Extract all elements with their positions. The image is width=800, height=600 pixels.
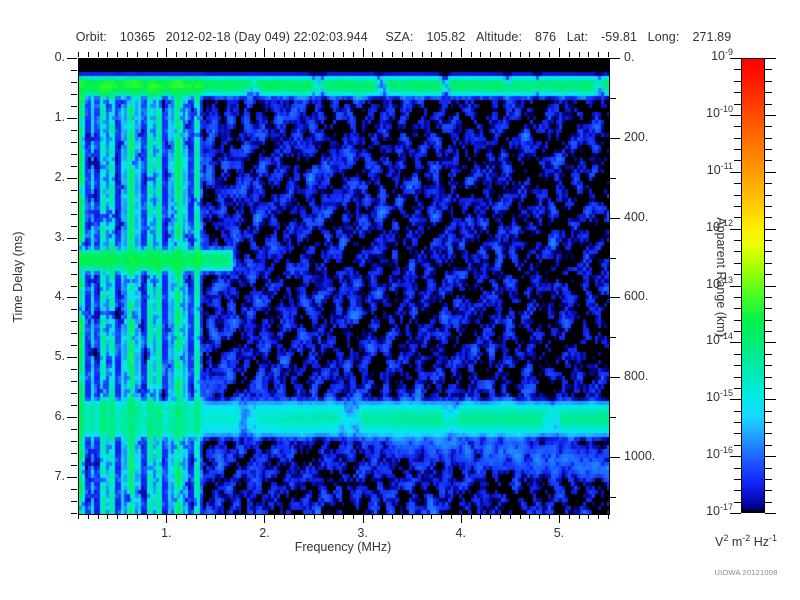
y2-axis-tick-label: 200.	[624, 130, 684, 144]
x-axis-major-tick	[559, 514, 560, 523]
x-axis-top-tick	[539, 52, 540, 57]
x-axis-top-tick	[98, 52, 99, 57]
unit-hertz: Hz	[754, 535, 769, 549]
x-axis-top-tick	[588, 52, 589, 57]
unit-meter: m	[732, 535, 742, 549]
y-axis-minor-tick	[71, 309, 77, 310]
x-axis-top-tick	[333, 52, 334, 57]
colorbar-minor-tick-left	[734, 433, 741, 434]
x-axis-top-tick	[412, 52, 413, 57]
y-axis-major-tick	[67, 178, 77, 179]
plot-header: Orbit:10365 2012-02-18 (Day 049) 22:02:0…	[0, 30, 800, 44]
x-axis-minor-tick	[157, 514, 158, 519]
x-axis-top-tick	[294, 52, 295, 57]
x-axis-minor-tick	[598, 514, 599, 519]
y2-axis-major-tick	[610, 58, 620, 59]
y-axis-minor-tick	[71, 142, 77, 143]
x-axis-minor-tick	[235, 514, 236, 519]
x-axis-minor-tick	[549, 514, 550, 519]
unit-meter-exponent: -2	[742, 533, 750, 543]
y2-axis-tick-label: 600.	[624, 289, 684, 303]
colorbar-major-tick	[765, 456, 776, 457]
y2-axis-major-tick	[610, 377, 620, 378]
x-axis-minor-tick	[98, 514, 99, 519]
x-axis-top-tick	[255, 52, 256, 57]
x-axis-minor-tick	[412, 514, 413, 519]
colorbar-minor-tick	[765, 308, 772, 309]
y2-axis-tick-label: 400.	[624, 210, 684, 224]
y-axis-major-tick	[67, 357, 77, 358]
colorbar-minor-tick	[765, 104, 772, 105]
long-label: Long:	[648, 30, 680, 44]
y-axis-minor-tick	[71, 393, 77, 394]
y2-axis-major-tick	[610, 138, 620, 139]
y-axis-major-tick	[67, 417, 77, 418]
x-axis-top-tick	[598, 52, 599, 57]
colorbar-minor-tick-left	[734, 138, 741, 139]
y2-axis-major-tick	[610, 297, 620, 298]
colorbar-major-tick-left	[730, 399, 741, 400]
sza-value: 105.82	[427, 30, 466, 44]
y-axis-tick-label: 4.	[25, 289, 65, 303]
y-axis-tick-label: 2.	[25, 170, 65, 184]
colorbar-minor-tick	[765, 195, 772, 196]
y-axis-title: Time Delay (ms)	[11, 197, 25, 357]
unit-volt-exponent: 2	[723, 533, 728, 543]
y-axis-tick-label: 5.	[25, 349, 65, 363]
colorbar-minor-tick	[765, 502, 772, 503]
colorbar-minor-tick	[765, 331, 772, 332]
y-axis-minor-tick	[71, 333, 77, 334]
x-axis-top-tick	[520, 52, 521, 57]
colorbar-tick-label: 10-9	[681, 49, 733, 63]
colorbar-major-tick-left	[730, 115, 741, 116]
y-axis-tick-label: 6.	[25, 409, 65, 423]
x-axis-minor-tick	[480, 514, 481, 519]
colorbar-major-tick-left	[730, 513, 741, 514]
colorbar-tick-label: 10-10	[681, 106, 733, 120]
colorbar-major-tick-left	[730, 229, 741, 230]
y-axis-minor-tick	[71, 94, 77, 95]
y-axis-minor-tick	[71, 274, 77, 275]
x-axis-minor-tick	[88, 514, 89, 519]
y2-axis-minor-tick	[610, 178, 616, 179]
colorbar-minor-tick-left	[734, 388, 741, 389]
y-axis-minor-tick	[71, 513, 77, 514]
x-axis-top-tick	[284, 52, 285, 57]
x-axis-minor-tick	[392, 514, 393, 519]
colorbar-minor-tick-left	[734, 81, 741, 82]
x-axis-major-tick	[264, 514, 265, 523]
y-axis-major-tick	[67, 118, 77, 119]
spectrogram-canvas	[79, 59, 609, 514]
y-axis-minor-tick	[71, 453, 77, 454]
x-axis-top-tick	[402, 52, 403, 57]
x-axis-minor-tick	[529, 514, 530, 519]
colorbar-major-tick-left	[730, 286, 741, 287]
x-axis-top-tick	[608, 52, 609, 57]
x-axis-minor-tick	[608, 514, 609, 519]
x-axis-minor-tick	[569, 514, 570, 519]
y-axis-minor-tick	[71, 214, 77, 215]
colorbar-minor-tick-left	[734, 422, 741, 423]
colorbar-minor-tick	[765, 263, 772, 264]
y-axis-minor-tick	[71, 286, 77, 287]
colorbar-tick-label: 10-16	[681, 447, 733, 461]
x-axis-minor-tick	[225, 514, 226, 519]
x-axis-minor-tick	[323, 514, 324, 519]
x-axis-top-tick	[372, 52, 373, 57]
x-axis-top-tick	[225, 52, 226, 57]
y-axis-minor-tick	[71, 154, 77, 155]
y-axis-tick-label: 7.	[25, 469, 65, 483]
x-axis-minor-tick	[579, 514, 580, 519]
colorbar-major-tick	[765, 115, 776, 116]
colorbar-tick-label: 10-17	[681, 504, 733, 518]
x-axis-minor-tick	[520, 514, 521, 519]
x-axis-minor-tick	[539, 514, 540, 519]
colorbar-minor-tick-left	[734, 251, 741, 252]
colorbar-minor-tick	[765, 297, 772, 298]
colorbar-minor-tick-left	[734, 160, 741, 161]
y-axis-minor-tick	[71, 226, 77, 227]
colorbar-minor-tick	[765, 126, 772, 127]
x-axis-minor-tick	[245, 514, 246, 519]
colorbar-minor-tick	[765, 138, 772, 139]
x-axis-minor-tick	[127, 514, 128, 519]
x-axis-top-tick	[274, 52, 275, 57]
lat-label: Lat:	[567, 30, 588, 44]
colorbar-tick-label: 10-15	[681, 390, 733, 404]
colorbar-minor-tick	[765, 422, 772, 423]
x-axis-top-tick	[206, 52, 207, 57]
y2-axis-major-tick	[610, 457, 620, 458]
unit-hertz-exponent: -1	[769, 533, 777, 543]
x-axis-minor-tick	[117, 514, 118, 519]
colorbar-minor-tick	[765, 388, 772, 389]
x-axis-top-tick	[549, 52, 550, 57]
colorbar-minor-tick-left	[734, 206, 741, 207]
x-axis-minor-tick	[343, 514, 344, 519]
x-axis-top-tick	[451, 52, 452, 57]
x-axis-top-tick	[314, 52, 315, 57]
x-axis-tick-label: 2.	[244, 526, 284, 540]
x-axis-minor-tick	[372, 514, 373, 519]
y-axis-tick-label: 0.	[25, 50, 65, 64]
y-axis-minor-tick	[71, 202, 77, 203]
x-axis-minor-tick	[294, 514, 295, 519]
y2-axis-minor-tick	[610, 497, 616, 498]
x-axis-top-tick	[343, 52, 344, 57]
long-value: 271.89	[692, 30, 731, 44]
x-axis-minor-tick	[471, 514, 472, 519]
x-axis-top-tick	[500, 52, 501, 57]
datetime-value: 2012-02-18 (Day 049) 22:02:03.944	[166, 30, 368, 44]
colorbar-minor-tick-left	[734, 69, 741, 70]
x-axis-top-tick	[461, 48, 462, 57]
colorbar-minor-tick-left	[734, 377, 741, 378]
x-axis-top-tick	[392, 52, 393, 57]
colorbar-minor-tick-left	[734, 479, 741, 480]
orbit-label: Orbit:	[76, 30, 107, 44]
x-axis-top-tick	[353, 52, 354, 57]
x-axis-top-tick	[422, 52, 423, 57]
x-axis-top-tick	[569, 52, 570, 57]
y2-axis-tick-label: 800.	[624, 369, 684, 383]
x-axis-top-tick	[304, 52, 305, 57]
y-axis-major-tick	[67, 297, 77, 298]
x-axis-minor-tick	[107, 514, 108, 519]
y-axis-minor-tick	[71, 106, 77, 107]
colorbar-minor-tick	[765, 183, 772, 184]
colorbar-minor-tick	[765, 274, 772, 275]
x-axis-top-tick	[382, 52, 383, 57]
colorbar-major-tick	[765, 58, 776, 59]
colorbar-minor-tick-left	[734, 104, 741, 105]
x-axis-top-tick	[88, 52, 89, 57]
colorbar-minor-tick-left	[734, 92, 741, 93]
x-axis-top-tick	[176, 52, 177, 57]
colorbar-minor-tick-left	[734, 445, 741, 446]
colorbar-minor-tick-left	[734, 240, 741, 241]
colorbar-minor-tick-left	[734, 183, 741, 184]
y-axis-minor-tick	[71, 405, 77, 406]
x-axis-minor-tick	[451, 514, 452, 519]
x-axis-minor-tick	[431, 514, 432, 519]
sza-label: SZA:	[385, 30, 413, 44]
y-axis-minor-tick	[71, 441, 77, 442]
colorbar-minor-tick	[765, 92, 772, 93]
colorbar-minor-tick	[765, 479, 772, 480]
x-axis-minor-tick	[333, 514, 334, 519]
colorbar-minor-tick	[765, 81, 772, 82]
ionogram-plot-page: Orbit:10365 2012-02-18 (Day 049) 22:02:0…	[0, 0, 800, 600]
y-axis-tick-label: 3.	[25, 230, 65, 244]
x-axis-major-tick	[461, 514, 462, 523]
x-axis-tick-label: 5.	[539, 526, 579, 540]
x-axis-top-tick	[127, 52, 128, 57]
colorbar-minor-tick-left	[734, 490, 741, 491]
colorbar-minor-tick-left	[734, 320, 741, 321]
y-axis-minor-tick	[71, 321, 77, 322]
x-axis-minor-tick	[588, 514, 589, 519]
colorbar-tick-label: 10-13	[681, 277, 733, 291]
x-axis-minor-tick	[402, 514, 403, 519]
x-axis-top-tick	[480, 52, 481, 57]
colorbar-major-tick-left	[730, 172, 741, 173]
x-axis-minor-tick	[284, 514, 285, 519]
x-axis-minor-tick	[314, 514, 315, 519]
y-axis-minor-tick	[71, 465, 77, 466]
x-axis-minor-tick	[353, 514, 354, 519]
colorbar-major-tick	[765, 342, 776, 343]
x-axis-top-tick	[117, 52, 118, 57]
colorbar-minor-tick-left	[734, 297, 741, 298]
x-axis-top-tick	[215, 52, 216, 57]
y2-axis-tick-label: 1000.	[624, 449, 684, 463]
x-axis-minor-tick	[78, 514, 79, 519]
colorbar-minor-tick-left	[734, 365, 741, 366]
altitude-value: 876	[535, 30, 556, 44]
colorbar-tick-label: 10-11	[681, 163, 733, 177]
x-axis-top-tick	[157, 52, 158, 57]
x-axis-minor-tick	[304, 514, 305, 519]
x-axis-top-tick	[323, 52, 324, 57]
colorbar-tick-label: 10-12	[681, 220, 733, 234]
colorbar-minor-tick-left	[734, 354, 741, 355]
x-axis-top-tick	[431, 52, 432, 57]
x-axis-top-tick	[579, 52, 580, 57]
x-axis-top-tick	[441, 52, 442, 57]
y-axis-minor-tick	[71, 381, 77, 382]
y-axis-minor-tick	[71, 345, 77, 346]
colorbar-major-tick-left	[730, 342, 741, 343]
colorbar-major-tick	[765, 229, 776, 230]
y2-axis-minor-tick	[610, 417, 616, 418]
colorbar-minor-tick	[765, 433, 772, 434]
y-axis-major-tick	[67, 477, 77, 478]
y2-axis-major-tick	[610, 218, 620, 219]
x-axis-minor-tick	[255, 514, 256, 519]
x-axis-minor-tick	[422, 514, 423, 519]
colorbar-minor-tick	[765, 377, 772, 378]
x-axis-tick-label: 4.	[441, 526, 481, 540]
colorbar-minor-tick	[765, 240, 772, 241]
colorbar	[741, 58, 765, 513]
colorbar-minor-tick	[765, 365, 772, 366]
x-axis-minor-tick	[215, 514, 216, 519]
colorbar-unit-label: V2 m-2 Hz-1	[692, 535, 800, 549]
colorbar-minor-tick-left	[734, 149, 741, 150]
x-axis-top-tick	[363, 48, 364, 57]
y2-axis-minor-tick	[610, 337, 616, 338]
x-axis-top-tick	[510, 52, 511, 57]
x-axis-tick-label: 1.	[146, 526, 186, 540]
colorbar-minor-tick-left	[734, 502, 741, 503]
y-axis-minor-tick	[71, 489, 77, 490]
colorbar-major-tick	[765, 399, 776, 400]
x-axis-top-tick	[490, 52, 491, 57]
colorbar-minor-tick-left	[734, 195, 741, 196]
colorbar-minor-tick-left	[734, 263, 741, 264]
y-axis-minor-tick	[71, 130, 77, 131]
colorbar-minor-tick	[765, 69, 772, 70]
y-axis-tick-label: 1.	[25, 110, 65, 124]
colorbar-major-tick	[765, 172, 776, 173]
colorbar-minor-tick	[765, 217, 772, 218]
spectrogram-plot-area	[78, 58, 610, 515]
colorbar-minor-tick-left	[734, 331, 741, 332]
colorbar-minor-tick-left	[734, 126, 741, 127]
colorbar-tick-label: 10-14	[681, 333, 733, 347]
colorbar-minor-tick	[765, 251, 772, 252]
colorbar-minor-tick-left	[734, 411, 741, 412]
x-axis-top-tick	[186, 52, 187, 57]
x-axis-minor-tick	[137, 514, 138, 519]
x-axis-minor-tick	[206, 514, 207, 519]
x-axis-top-tick	[137, 52, 138, 57]
y-axis-minor-tick	[71, 82, 77, 83]
y-axis-minor-tick	[71, 262, 77, 263]
x-axis-top-tick	[107, 52, 108, 57]
y-axis-major-tick	[67, 58, 77, 59]
y-axis-minor-tick	[71, 501, 77, 502]
x-axis-minor-tick	[500, 514, 501, 519]
colorbar-major-tick-left	[730, 58, 741, 59]
colorbar-major-tick	[765, 286, 776, 287]
x-axis-top-tick	[147, 52, 148, 57]
y-axis-minor-tick	[71, 190, 77, 191]
x-axis-minor-tick	[490, 514, 491, 519]
colorbar-minor-tick	[765, 160, 772, 161]
y2-axis-minor-tick	[610, 258, 616, 259]
x-axis-top-tick	[166, 48, 167, 57]
colorbar-major-tick	[765, 513, 776, 514]
lat-value: -59.81	[601, 30, 637, 44]
y-axis-major-tick	[67, 238, 77, 239]
x-axis-major-tick	[363, 514, 364, 523]
colorbar-minor-tick	[765, 411, 772, 412]
x-axis-minor-tick	[186, 514, 187, 519]
colorbar-minor-tick	[765, 206, 772, 207]
x-axis-minor-tick	[441, 514, 442, 519]
x-axis-top-tick	[196, 52, 197, 57]
y-axis-minor-tick	[71, 166, 77, 167]
colorbar-minor-tick-left	[734, 274, 741, 275]
y-axis-minor-tick	[71, 70, 77, 71]
colorbar-minor-tick-left	[734, 468, 741, 469]
x-axis-top-tick	[559, 48, 560, 57]
y2-axis-tick-label: 0.	[624, 50, 684, 64]
colorbar-gradient	[741, 58, 765, 513]
y2-axis-minor-tick	[610, 98, 616, 99]
y-axis-minor-tick	[71, 369, 77, 370]
colorbar-minor-tick-left	[734, 308, 741, 309]
x-axis-title: Frequency (MHz)	[78, 540, 608, 554]
x-axis-major-tick	[166, 514, 167, 523]
x-axis-top-tick	[264, 48, 265, 57]
colorbar-minor-tick	[765, 149, 772, 150]
colorbar-minor-tick	[765, 354, 772, 355]
altitude-label: Altitude:	[476, 30, 522, 44]
x-axis-minor-tick	[176, 514, 177, 519]
colorbar-minor-tick	[765, 445, 772, 446]
colorbar-major-tick-left	[730, 456, 741, 457]
colorbar-minor-tick	[765, 468, 772, 469]
orbit-value: 10365	[120, 30, 155, 44]
x-axis-minor-tick	[510, 514, 511, 519]
y-axis-minor-tick	[71, 429, 77, 430]
x-axis-top-tick	[245, 52, 246, 57]
x-axis-top-tick	[529, 52, 530, 57]
colorbar-minor-tick	[765, 320, 772, 321]
x-axis-minor-tick	[274, 514, 275, 519]
x-axis-minor-tick	[147, 514, 148, 519]
colorbar-minor-tick-left	[734, 217, 741, 218]
x-axis-top-tick	[78, 52, 79, 57]
x-axis-minor-tick	[382, 514, 383, 519]
y-axis-minor-tick	[71, 250, 77, 251]
x-axis-tick-label: 3.	[343, 526, 383, 540]
x-axis-top-tick	[235, 52, 236, 57]
x-axis-minor-tick	[196, 514, 197, 519]
footer-credit: UIOWA 20121008	[694, 568, 798, 577]
colorbar-minor-tick	[765, 490, 772, 491]
x-axis-top-tick	[471, 52, 472, 57]
